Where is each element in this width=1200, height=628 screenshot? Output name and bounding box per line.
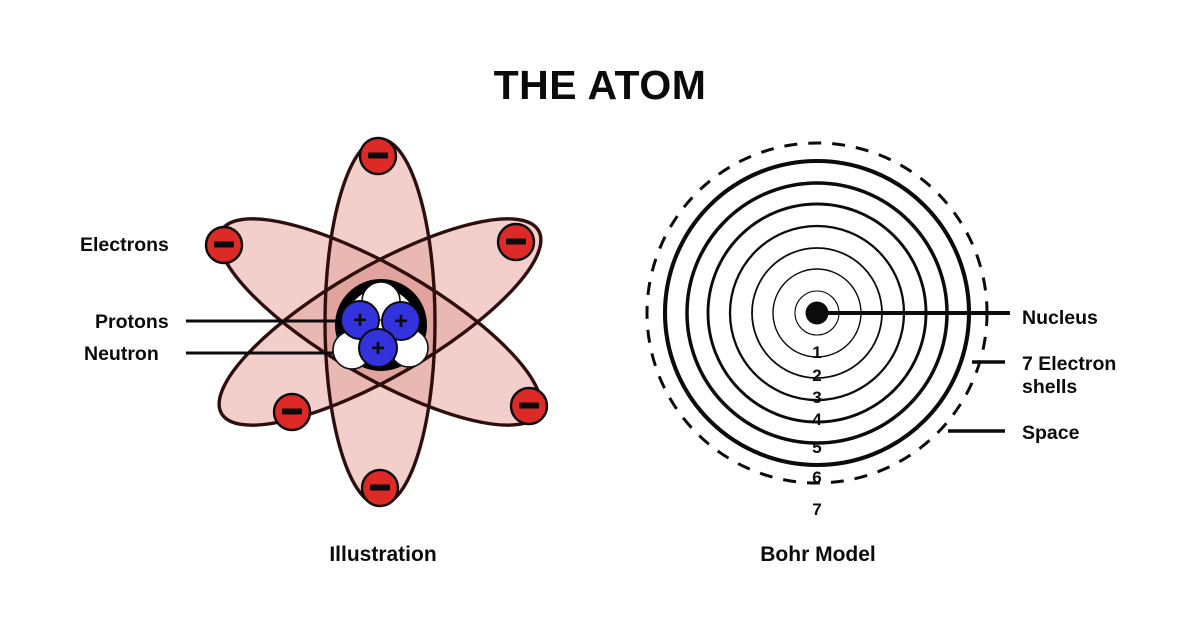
label-electron-shells-line1: 7 Electron xyxy=(1022,353,1116,375)
shell-number-2: 2 xyxy=(812,366,821,385)
caption-bohr-model: Bohr Model xyxy=(640,543,996,567)
shell-number-7: 7 xyxy=(812,500,821,519)
shell-number-5: 5 xyxy=(812,438,821,457)
atom-poster: THE ATOM xyxy=(0,0,1200,628)
label-nucleus: Nucleus xyxy=(1022,307,1098,329)
label-space: Space xyxy=(1022,422,1080,444)
bohr-model-diagram: 1 2 3 4 5 6 7 Nucleus 7 Electron shells … xyxy=(0,0,1200,628)
caption-illustration: Illustration xyxy=(205,543,561,567)
shell-number-1: 1 xyxy=(812,343,821,362)
shell-number-3: 3 xyxy=(812,388,821,407)
nucleus-dot xyxy=(806,302,829,325)
shell-number-4: 4 xyxy=(812,410,822,429)
shell-number-6: 6 xyxy=(812,468,821,487)
label-electron-shells-line2: shells xyxy=(1022,376,1077,398)
